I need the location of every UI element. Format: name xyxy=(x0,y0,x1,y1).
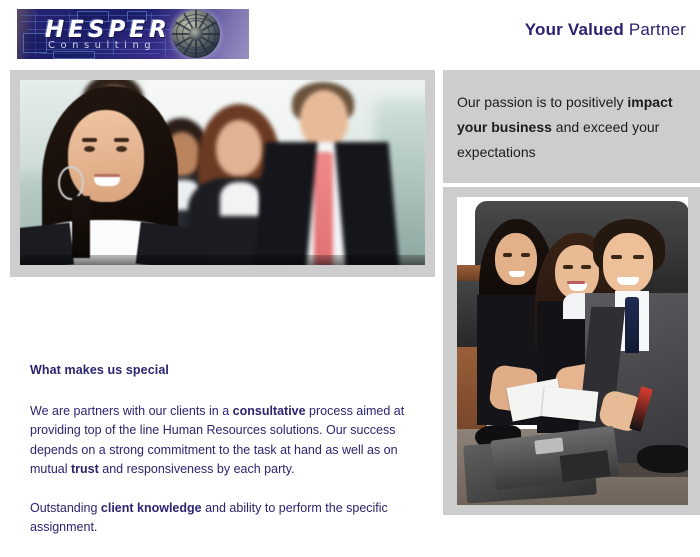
main-copy: What makes us special We are partners wi… xyxy=(30,361,425,557)
emphasis-text: trust xyxy=(71,462,99,476)
page-heading: What makes us special xyxy=(30,361,425,381)
sphere-lattice-logo-icon xyxy=(172,10,220,58)
tagline-regular: Partner xyxy=(624,20,686,39)
company-logo[interactable]: HESPER Consulting xyxy=(17,9,249,59)
tagline-bold: Your Valued xyxy=(525,20,624,39)
emphasis-text: client knowledge xyxy=(101,501,202,515)
body-text: and responsiveness by each party. xyxy=(99,462,295,476)
quote-panel: Our passion is to positively impact your… xyxy=(443,70,700,183)
paragraph-1: We are partners with our clients in a co… xyxy=(30,402,425,480)
body-text: Our passion is to positively xyxy=(457,94,627,110)
body-text: We are partners with our clients in a xyxy=(30,404,233,418)
body-text: Outstanding xyxy=(30,501,101,515)
sidebar-photo-frame xyxy=(443,187,700,515)
emphasis-text: consultative xyxy=(233,404,306,418)
paragraph-2: Outstanding client knowledge and ability… xyxy=(30,499,425,538)
hero-team-photo xyxy=(20,80,425,265)
header-tagline: Your Valued Partner xyxy=(525,20,686,40)
sidebar-team-photo xyxy=(457,197,688,505)
left-column: What makes us special We are partners wi… xyxy=(10,70,435,277)
logo-subword: Consulting xyxy=(48,40,156,51)
quote-text: Our passion is to positively impact your… xyxy=(457,90,686,165)
page-header: HESPER Consulting Your Valued Partner xyxy=(0,0,700,68)
hero-photo-frame xyxy=(10,70,435,277)
